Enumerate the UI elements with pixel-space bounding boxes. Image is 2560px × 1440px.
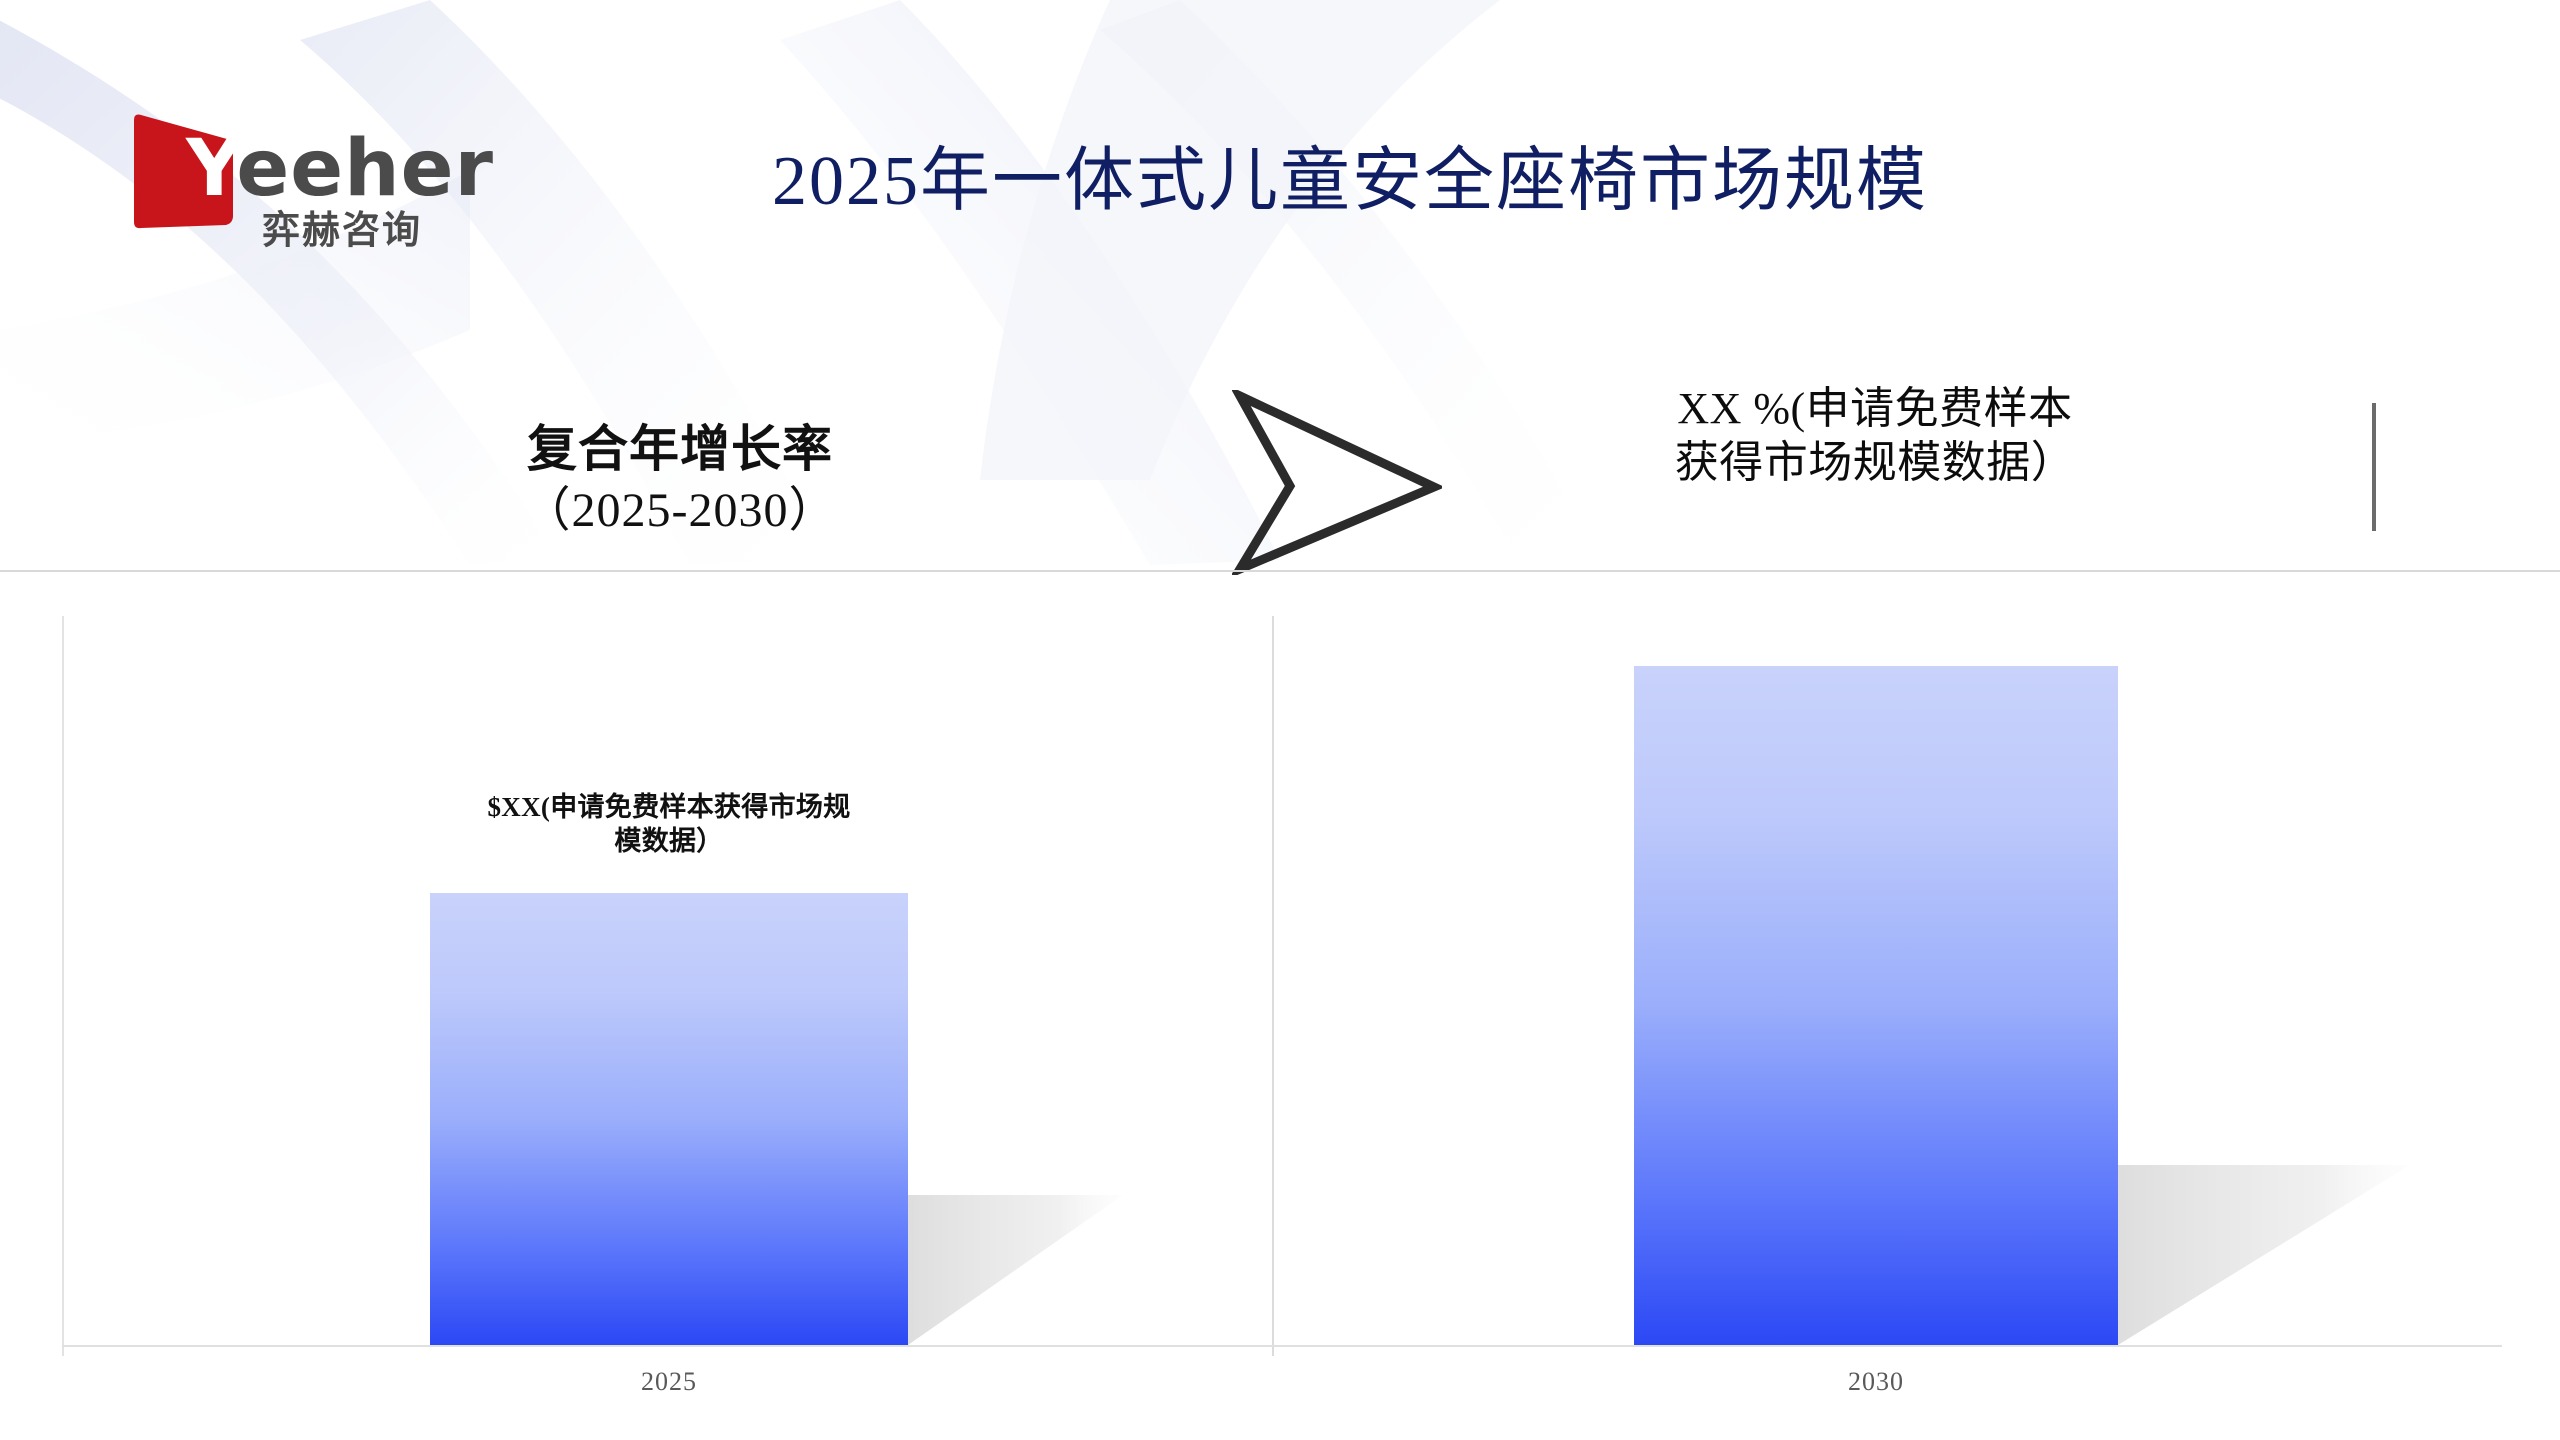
bar-2025[interactable] <box>430 893 908 1345</box>
x-tick-2030: 2030 <box>1634 1366 2118 1398</box>
bar-label-2025-line-1: $XX(申请免费样本获得市场规 <box>430 790 908 824</box>
logo-wordmark-rest: eeher <box>236 124 494 214</box>
chart-left-axis-line <box>62 616 64 1356</box>
callout-line-2: 获得市场规模数据） <box>1625 436 2125 490</box>
page-title: 2025年一体式儿童安全座椅市场规模 <box>640 140 2060 224</box>
cagr-block: 复合年增长率 （2025-2030） <box>470 418 890 542</box>
logo-subtitle: 弈赫咨询 <box>262 210 422 250</box>
arrow-right-outline-icon <box>1232 390 1442 575</box>
chart-panel-divider <box>1272 616 1274 1356</box>
cagr-label: 复合年增长率 <box>470 418 890 480</box>
logo-wordmark-initial: Y <box>186 124 236 214</box>
bar-label-2025-line-2: 模数据） <box>430 824 908 858</box>
cagr-period: （2025-2030） <box>470 480 890 542</box>
logo-wordmark: Yeeher <box>186 130 494 208</box>
bar-label-2025: $XX(申请免费样本获得市场规 模数据） <box>430 790 908 858</box>
callout-line-1: XX %(申请免费样本 <box>1625 382 2125 436</box>
callout-divider <box>2372 403 2376 531</box>
slide-canvas: Yeeher 弈赫咨询 2025年一体式儿童安全座椅市场规模 复合年增长率 （2… <box>0 0 2560 1440</box>
x-tick-2025: 2025 <box>430 1366 908 1398</box>
bar-shadow-2030 <box>2118 1165 2418 1347</box>
cagr-value-callout: XX %(申请免费样本 获得市场规模数据） <box>1625 382 2125 490</box>
bar-2030[interactable] <box>1634 666 2118 1345</box>
bar-shadow-2025 <box>908 1195 1128 1347</box>
chart-baseline <box>62 1345 2502 1347</box>
brand-logo: Yeeher 弈赫咨询 <box>128 112 488 212</box>
header-divider <box>0 570 2560 572</box>
